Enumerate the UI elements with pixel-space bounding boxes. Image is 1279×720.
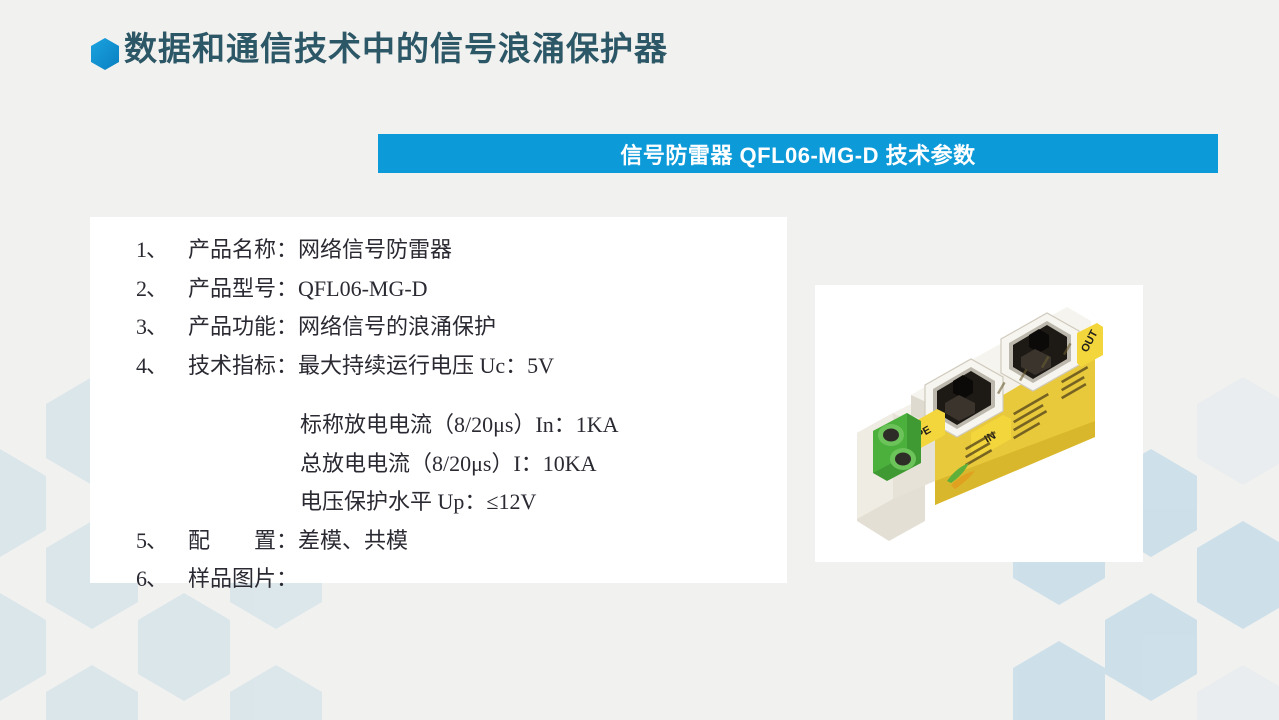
- spec-row-label: 样品图片：: [188, 560, 298, 599]
- spec-row: 6、 样品图片：: [136, 560, 776, 599]
- spec-row-number: 5、: [136, 522, 188, 561]
- slide-header: 数据和通信技术中的信号浪涌保护器: [0, 0, 1279, 100]
- spec-row-number: 3、: [136, 308, 188, 347]
- spec-row-label: 产品型号：: [188, 270, 298, 309]
- spec-row-value: 网络信号防雷器: [298, 231, 452, 270]
- spec-row-number: 2、: [136, 270, 188, 309]
- spec-row-value: 标称放电电流（8/20μs）In：1KA: [300, 406, 619, 445]
- spec-row-value: 网络信号的浪涌保护: [298, 308, 496, 347]
- spec-row-number: 6、: [136, 560, 188, 599]
- spec-row-value: 最大持续运行电压 Uc：5V: [298, 347, 554, 386]
- product-photo-spd-device: OUT IN PE: [815, 285, 1143, 562]
- spec-row-label: 技术指标：: [188, 347, 298, 386]
- spec-row-number: 4、: [136, 347, 188, 386]
- spec-row: 电压保护水平 Up：≤12V: [136, 483, 776, 522]
- spec-row: 2、 产品型号： QFL06-MG-D: [136, 270, 776, 309]
- spec-list: 1、 产品名称： 网络信号防雷器 2、 产品型号： QFL06-MG-D 3、 …: [136, 231, 776, 599]
- spec-row-label: 配 置：: [188, 522, 298, 561]
- spec-row: 标称放电电流（8/20μs）In：1KA: [136, 406, 776, 445]
- page-title: 数据和通信技术中的信号浪涌保护器: [124, 26, 668, 72]
- spec-card: 1、 产品名称： 网络信号防雷器 2、 产品型号： QFL06-MG-D 3、 …: [90, 217, 787, 583]
- spec-row-value: QFL06-MG-D: [298, 270, 428, 309]
- spec-row: 总放电电流（8/20μs）I：10KA: [136, 445, 776, 484]
- spec-row-label: 产品名称：: [188, 231, 298, 270]
- spec-row: 3、 产品功能： 网络信号的浪涌保护: [136, 308, 776, 347]
- spec-row: 4、 技术指标： 最大持续运行电压 Uc：5V: [136, 347, 776, 386]
- spec-banner: 信号防雷器 QFL06-MG-D 技术参数: [378, 134, 1218, 173]
- spec-row-label: 产品功能：: [188, 308, 298, 347]
- spec-row-value: 总放电电流（8/20μs）I：10KA: [300, 445, 597, 484]
- hexagon-icon: [91, 38, 119, 70]
- spec-row-value: 差模、共模: [298, 522, 408, 561]
- spec-row-value: 电压保护水平 Up：≤12V: [300, 483, 536, 522]
- spec-row-number: 1、: [136, 231, 188, 270]
- product-photo-card: OUT IN PE: [815, 285, 1143, 562]
- spec-spacer: [136, 385, 776, 406]
- spec-banner-title: 信号防雷器 QFL06-MG-D 技术参数: [620, 138, 975, 170]
- spec-row: 1、 产品名称： 网络信号防雷器: [136, 231, 776, 270]
- spec-row: 5、 配 置： 差模、共模: [136, 522, 776, 561]
